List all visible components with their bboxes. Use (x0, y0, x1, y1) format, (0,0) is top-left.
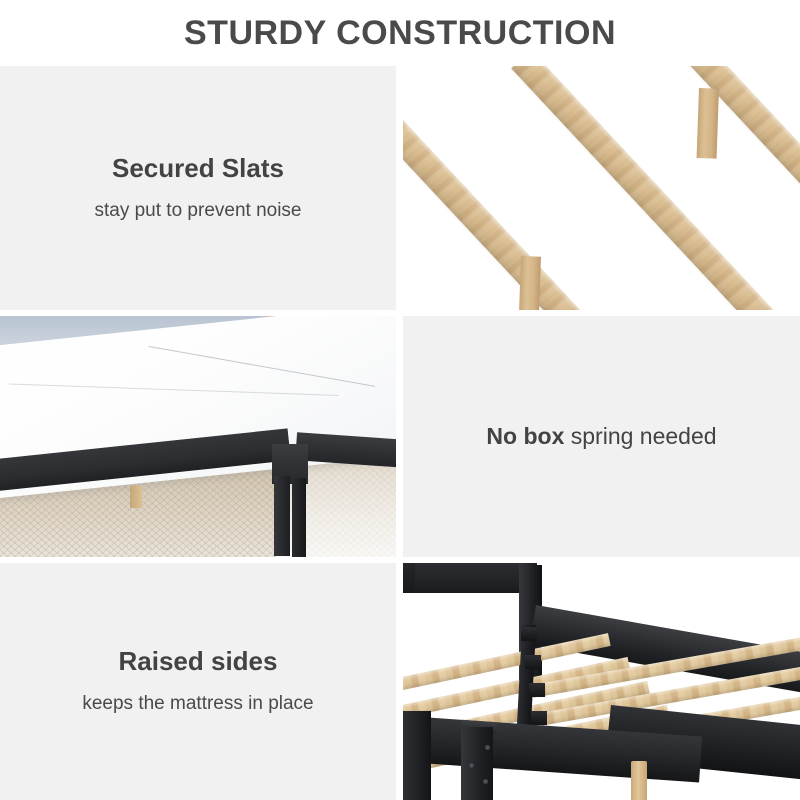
feature-heading-no-box-spring: No box spring needed (486, 423, 716, 451)
screw-icon (485, 745, 490, 750)
feature-heading-raised-sides: Raised sides (119, 647, 278, 677)
feature-subtext-raised-sides: keeps the mattress in place (82, 693, 313, 716)
wood-slat-leg (697, 88, 719, 159)
feature-subtext-secured-slats: stay put to prevent noise (94, 200, 301, 223)
feature-card-secured-slats: Secured Slats stay put to prevent noise (0, 66, 396, 310)
feature-image-raised-sides (403, 563, 800, 800)
feature-heading-strong: No box (486, 423, 564, 449)
bed-frame-corner-post (403, 711, 431, 800)
slat-bracket (525, 655, 541, 669)
screw-icon (483, 779, 488, 784)
wood-support-leg (130, 486, 142, 508)
feature-card-raised-sides: Raised sides keeps the mattress in place (0, 563, 396, 800)
slat-bracket (529, 683, 545, 697)
headboard-panel-inner (415, 563, 530, 591)
product-feature-infographic: STURDY CONSTRUCTION Secured Slats stay p… (0, 0, 800, 800)
wood-support-leg (631, 761, 647, 800)
bed-frame-photo (403, 563, 800, 800)
feature-image-secured-slats (403, 66, 800, 310)
page-title-bar: STURDY CONSTRUCTION (0, 0, 800, 66)
mattress-crease (9, 383, 339, 396)
wooden-slats-illustration (403, 66, 800, 310)
feature-image-no-box-spring (0, 316, 396, 557)
feature-heading-secured-slats: Secured Slats (112, 154, 284, 184)
page-title: STURDY CONSTRUCTION (184, 16, 616, 50)
feature-card-no-box-spring: No box spring needed (403, 316, 800, 557)
bed-frame-leg (292, 478, 306, 557)
feature-heading-light: spring needed (564, 423, 716, 449)
wood-slat-leg (519, 256, 541, 310)
screw-icon (469, 763, 474, 768)
bed-frame-leg (274, 476, 290, 556)
slat-bracket (531, 711, 547, 725)
mattress-crease (148, 346, 375, 387)
feature-grid: Secured Slats stay put to prevent noise (0, 66, 800, 800)
bed-frame-corner-post (461, 727, 493, 800)
slat-bracket (521, 627, 537, 641)
bed-photo (0, 316, 396, 557)
